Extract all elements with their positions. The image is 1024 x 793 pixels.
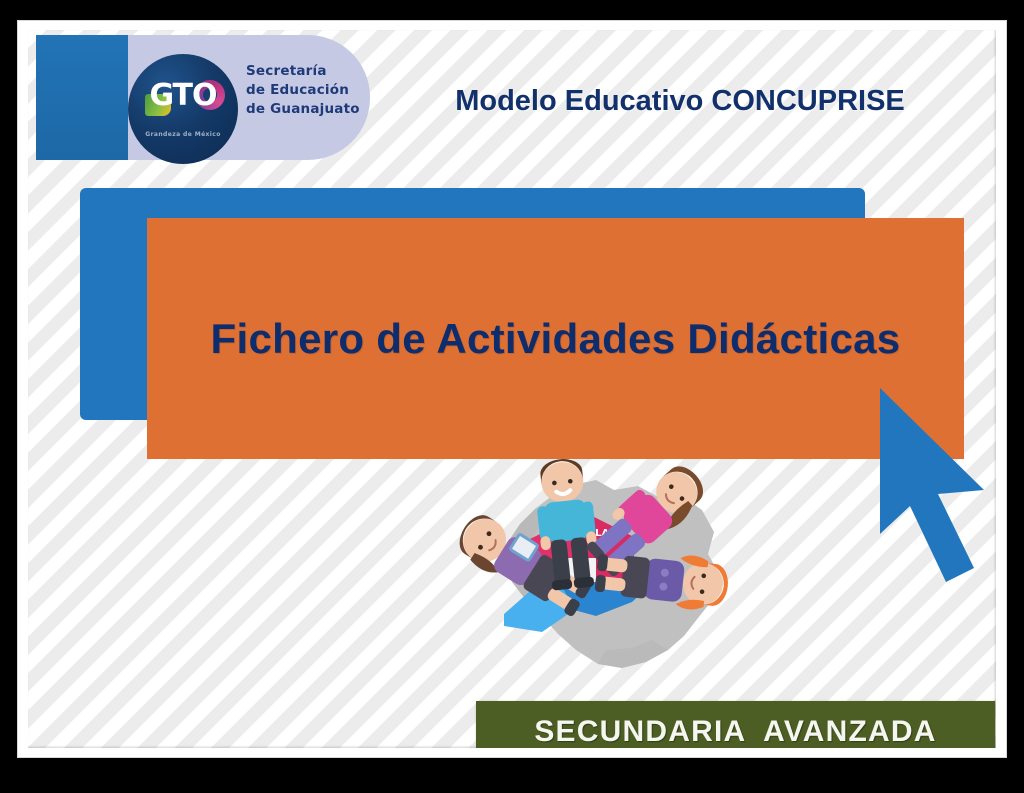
slide-frame: GTO Grandeza de México Secretaría de Edu… (18, 21, 1006, 757)
secretaria-line-3: de Guanajuato (246, 100, 360, 119)
secretaria-line-2: de Educación (246, 81, 360, 100)
gto-logo-icon: GTO Grandeza de México (128, 54, 238, 164)
level-banner-label: SECUNDARIA AVANZADA (534, 715, 936, 748)
slide-canvas: GTO Grandeza de México Secretaría de Edu… (28, 30, 996, 748)
cursor-arrow-icon (862, 386, 996, 596)
illustration-children-around-map: ESCUELA (446, 450, 776, 690)
secretaria-text-block: Secretaría de Educación de Guanajuato (246, 62, 360, 119)
main-title-banner: Fichero de Actividades Didácticas (147, 218, 964, 459)
logo-tagline: Grandeza de México (128, 131, 238, 138)
secretaria-line-1: Secretaría (246, 62, 360, 81)
logo-wordmark: GTO (128, 81, 238, 111)
main-title-text: Fichero de Actividades Didácticas (211, 315, 901, 363)
level-banner: SECUNDARIA AVANZADA (476, 701, 995, 748)
slide-header-title: Modelo Educativo CONCUPRISE (400, 85, 960, 118)
slide-root: GTO Grandeza de México Secretaría de Edu… (0, 0, 1024, 793)
